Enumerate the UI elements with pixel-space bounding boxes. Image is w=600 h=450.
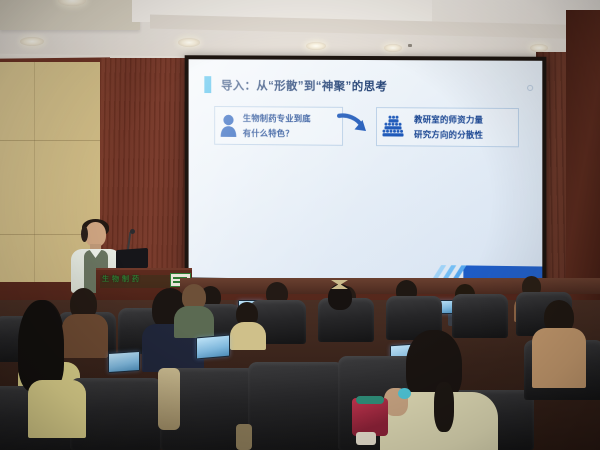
slide-left-box-line-1: 生物制药专业到底 (243, 112, 311, 124)
podium-label: 生物制药 (102, 274, 142, 284)
chair-armrest (158, 368, 180, 430)
slide-right-box-line-1: 教研室的师资力量 (414, 113, 483, 126)
person-icon (220, 113, 237, 137)
person-body (62, 314, 108, 358)
podium-laptop (116, 248, 148, 270)
group-people-icon (382, 114, 408, 140)
slide-left-box-lines: 生物制药专业到底 有什么特色？ (243, 112, 311, 139)
downlight-icon (384, 44, 402, 52)
downlight-icon (178, 38, 200, 47)
backpack-strap (356, 396, 384, 404)
person-body (532, 328, 586, 388)
person-body (174, 306, 214, 338)
lecture-hall-photo: 导入：从“形散”到“神聚”的思考 生物制药专业到底 有什么特色？ (0, 0, 600, 450)
presenter-hair-side (81, 226, 88, 242)
projection-screen: 导入：从“形散”到“神聚”的思考 生物制药专业到底 有什么特色？ (189, 59, 543, 282)
chair (248, 362, 344, 450)
small-cup (356, 432, 376, 445)
ceiling-sensor-icon (408, 44, 412, 47)
audience-laptop (196, 335, 230, 360)
downlight-icon (306, 42, 326, 50)
screen-corner-marker (527, 85, 533, 91)
laptop-screen (197, 336, 229, 359)
laptop-screen (109, 352, 139, 372)
person-braid (434, 382, 454, 432)
person-body (230, 322, 266, 350)
curved-arrow-right-icon (337, 112, 371, 138)
slide-left-box-line-2: 有什么特色？ (243, 127, 311, 139)
downlight-icon (530, 44, 548, 52)
audience-laptop (108, 351, 140, 373)
person-body (28, 380, 86, 438)
chair (452, 294, 508, 338)
slide-title-row: 导入：从“形散”到“神聚”的思考 (204, 76, 387, 94)
arrow-container (337, 112, 371, 138)
slide-right-box: 教研室的师资力量 研究方向的分散性 (376, 107, 519, 147)
microphone-icon (130, 229, 135, 234)
person-head (18, 300, 64, 392)
title-accent-bar (204, 76, 211, 93)
page-title: 导入：从“形散”到“神聚”的思考 (221, 77, 387, 94)
earbud-icon (398, 388, 411, 399)
slide-left-box: 生物制药专业到底 有什么特色？ (214, 106, 343, 146)
projection-screen-frame: 导入：从“形散”到“神聚”的思考 生物制药专业到底 有什么特色？ (185, 55, 547, 286)
chair-armrest (236, 424, 252, 450)
slide-right-box-lines: 教研室的师资力量 研究方向的分散性 (414, 113, 483, 141)
downlight-icon (20, 37, 44, 46)
slide-right-box-line-2: 研究方向的分散性 (414, 128, 483, 141)
